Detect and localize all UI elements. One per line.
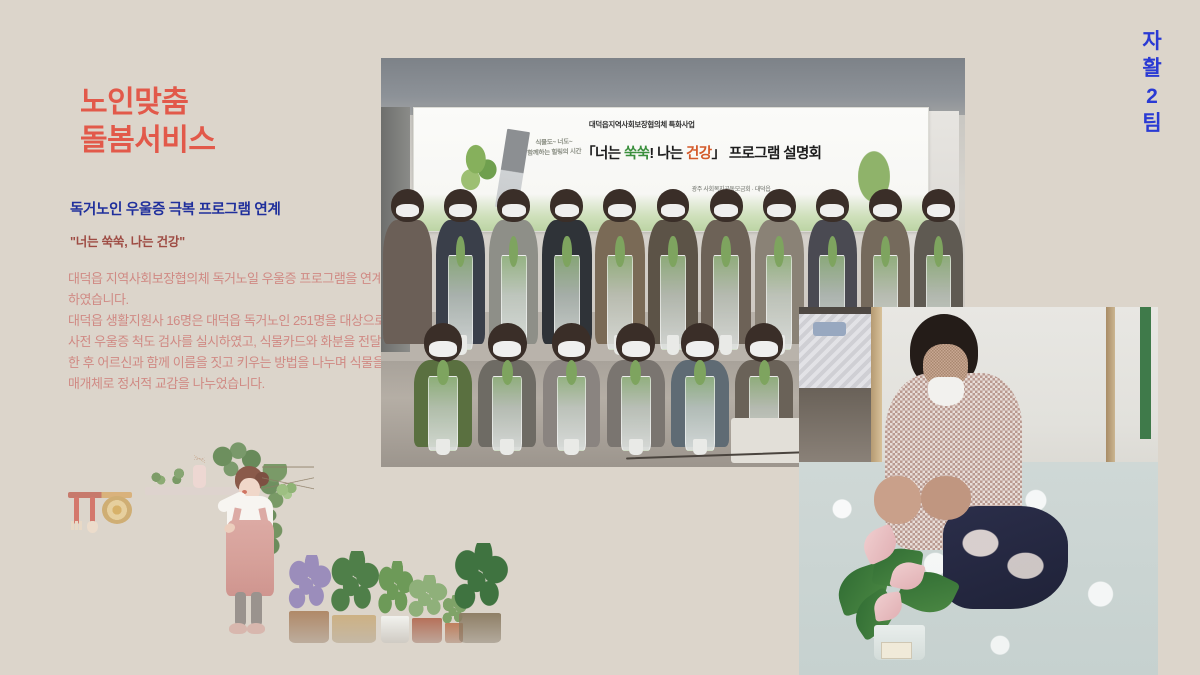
banner-headline-orange: 건강	[686, 146, 711, 162]
person-head	[745, 323, 784, 362]
woman-slipper	[247, 623, 265, 634]
woman-leg	[251, 592, 262, 626]
team-label-line-2: 활	[1130, 55, 1174, 82]
person-head	[763, 189, 796, 222]
woman-apron	[226, 520, 274, 596]
section-heading: 독거노인 우울증 극복 프로그램 연계	[70, 198, 400, 219]
banner-headline-green: 쑥쑥	[624, 146, 649, 162]
person-head	[710, 189, 743, 222]
photo-person	[681, 323, 720, 446]
plant-gift-bag	[557, 376, 587, 452]
person-head	[552, 323, 591, 362]
body-paragraph: 대덕읍 지역사회보장협의체 독거노일 우울증 프로그램을 연계하였습니다. 대덕…	[68, 268, 386, 394]
pillow	[813, 322, 845, 337]
person-head	[816, 189, 849, 222]
presentation-slide: 자 활 2 팀 노인맞춤 돌봄서비스 독거노인 우울증 극복 프로그램 연계 "…	[0, 0, 1200, 675]
garden-tool-rack	[68, 492, 132, 534]
green-furniture-leg	[1140, 307, 1151, 439]
photo-person	[488, 323, 527, 446]
photo-person	[616, 323, 655, 446]
elderly-plant-photo	[799, 307, 1158, 675]
door-frame-left	[871, 307, 882, 469]
person-head	[603, 189, 636, 222]
plant-pot	[289, 611, 329, 643]
anthurium-plant	[835, 520, 964, 660]
plant-foliage	[286, 555, 332, 615]
plant-foliage	[451, 543, 509, 617]
team-label-line-4: 팀	[1130, 110, 1174, 137]
terrarium-plant	[274, 481, 302, 503]
straw-hat-icon	[102, 496, 132, 524]
person-head	[424, 323, 463, 362]
face-mask	[928, 377, 964, 406]
photo-person	[552, 323, 591, 446]
left-hand	[874, 476, 921, 524]
person-head	[444, 189, 477, 222]
banner-headline: 「너는 쑥쑥! 나는 건강」 프로그램 설명회	[581, 142, 821, 163]
diffuser-bottle	[193, 465, 206, 488]
banner-tagline: 식물도~ 너도~ 함께하는 힐링의 시간	[527, 137, 582, 158]
woman-leg	[235, 592, 246, 626]
plant-pot	[564, 439, 578, 455]
banner-tagline-line-2: 함께하는 힐링의 시간	[527, 146, 581, 158]
banner-toptext: 대덕읍지역사회보장협의체 특화사업	[589, 119, 695, 130]
right-hand	[921, 476, 971, 520]
person-head	[616, 323, 655, 362]
garden-fork-icon	[74, 497, 79, 524]
plant-gift-bag	[428, 376, 458, 452]
photo-person	[424, 323, 463, 446]
shelf-plant-small	[149, 470, 167, 488]
plant-care-tag	[881, 642, 911, 659]
person-head	[681, 323, 720, 362]
team-label-line-1: 자	[1130, 28, 1174, 55]
plant-pot	[629, 439, 643, 455]
team-label-line-3: 2	[1130, 83, 1174, 110]
plant-gift-bag	[685, 376, 715, 452]
woman-slipper	[229, 623, 247, 634]
person-head	[488, 323, 527, 362]
plant-gift-bag	[492, 376, 522, 452]
plant-gift-bag	[621, 376, 651, 452]
plant-pot	[381, 616, 409, 643]
team-label: 자 활 2 팀	[1130, 28, 1174, 137]
banner-headline-open: 「너는	[581, 146, 624, 162]
shelf-plant-medium	[171, 466, 187, 488]
title-block: 노인맞춤 돌봄서비스	[80, 84, 380, 161]
page-title: 노인맞춤 돌봄서비스	[80, 84, 380, 161]
person-head	[497, 189, 530, 222]
plant-pot	[500, 439, 514, 455]
potted-plants-illustration	[286, 525, 501, 643]
banner-headline-close: 」 프로그램 설명회	[711, 146, 821, 162]
potted-plant	[451, 539, 509, 643]
plant-pot	[693, 439, 707, 455]
plant-foliage	[328, 551, 380, 619]
person-head	[922, 189, 955, 222]
person-head	[550, 189, 583, 222]
plant-pot	[332, 615, 376, 643]
person-head	[391, 189, 424, 222]
door-frame-right	[1106, 307, 1115, 462]
hanging-terrarium-icon	[262, 455, 314, 513]
person-head	[657, 189, 690, 222]
potted-plant	[328, 547, 380, 643]
garden-trowel-icon	[90, 497, 95, 524]
potted-plant	[286, 551, 332, 643]
plant-pot	[459, 613, 501, 643]
banner-headline-mid: ! 나는	[649, 146, 686, 162]
section-quote: "너는 쑥쑥, 나는 건강"	[70, 231, 400, 250]
plant-pot	[412, 618, 442, 643]
person-head	[869, 189, 902, 222]
plant-pot	[436, 439, 450, 455]
